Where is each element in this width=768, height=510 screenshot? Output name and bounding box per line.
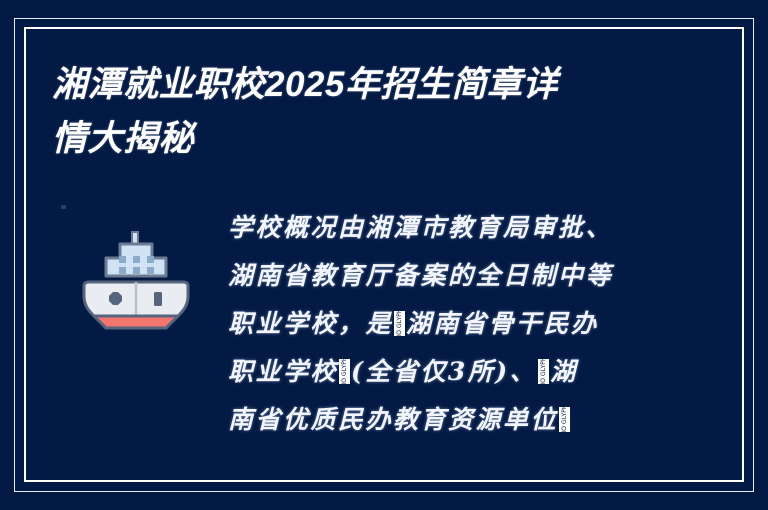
body-line: 湖南省教育厅备案的全日制中等 — [228, 252, 668, 300]
poster-canvas: 湘潭就业职校2025年招生简章详 情大揭秘 学校 — [0, 0, 768, 510]
missing-glyph-box: NO GLYPH — [394, 311, 405, 336]
body-line: 职业学校NO GLYPH(全省仅3所)、NO GLYPH湖 — [228, 348, 668, 396]
missing-glyph-box: NO GLYPH — [538, 359, 549, 384]
ship-icon — [62, 210, 210, 358]
page-title: 湘潭就业职校2025年招生简章详 情大揭秘 — [52, 58, 652, 166]
body-line: 学校概况由湘潭市教育局审批、 — [228, 204, 668, 252]
body-paragraph: 学校概况由湘潭市教育局审批、 湖南省教育厅备案的全日制中等 职业学校，是NO G… — [228, 204, 668, 444]
body-line: 职业学校，是NO GLYPH湖南省骨干民办 — [228, 300, 668, 348]
background-speck — [61, 205, 66, 209]
missing-glyph-box: NO GLYPH — [339, 359, 350, 384]
title-line-2: 情大揭秘 — [52, 112, 652, 166]
title-line-1: 湘潭就业职校2025年招生简章详 — [52, 58, 652, 112]
body-line: 南省优质民办教育资源单位NO GLYPH — [228, 396, 668, 444]
missing-glyph-box: NO GLYPH — [559, 407, 570, 432]
